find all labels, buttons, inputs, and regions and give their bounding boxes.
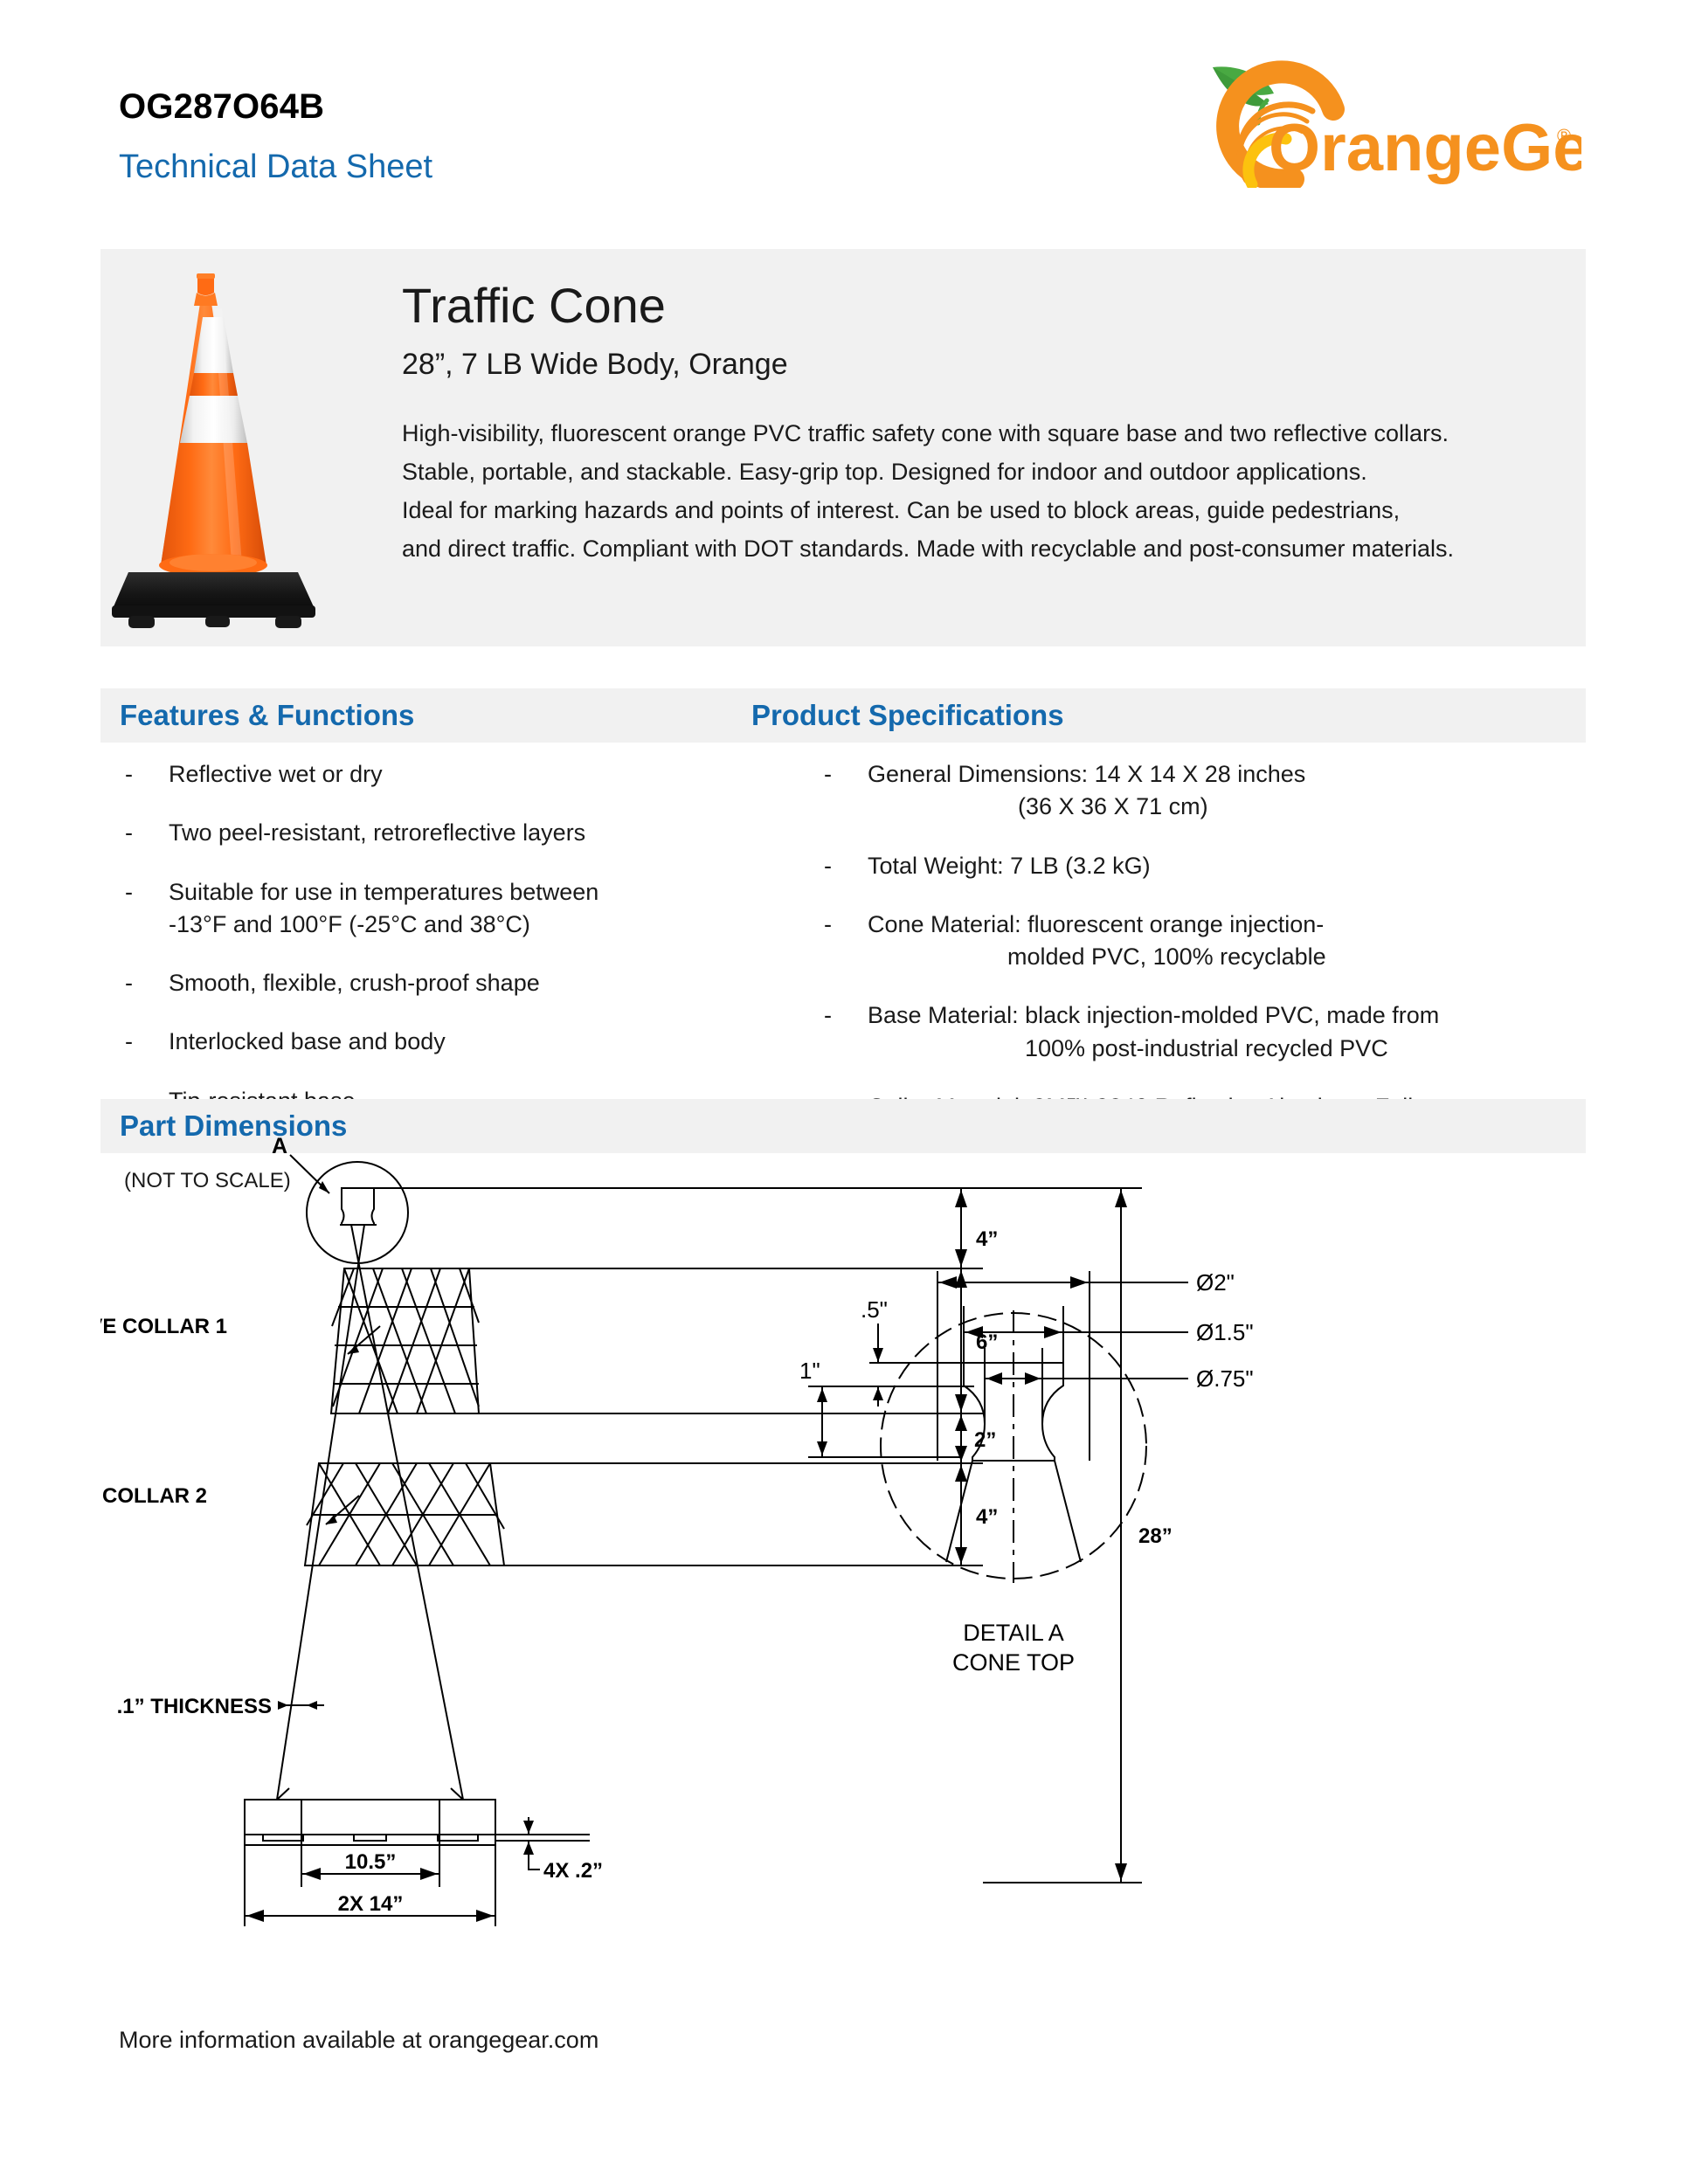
bullet-dash: -: [125, 758, 133, 791]
technical-drawing: A 4” 6” 2” 4” 28” REFLECTIVE COLLAR 1 RE…: [100, 1136, 1586, 2027]
dimension-collar-2: 4”: [976, 1505, 998, 1529]
product-hero-band: Traffic Cone 28”, 7 LB Wide Body, Orange…: [100, 249, 1586, 646]
bullet-dash: -: [125, 967, 133, 999]
base-inner-dimension: [301, 1800, 439, 1887]
description-line: Stable, portable, and stackable. Easy-gr…: [402, 453, 1555, 492]
dimension-between-collars: 2”: [974, 1428, 996, 1452]
list-item: - Suitable for use in temperatures betwe…: [118, 876, 730, 942]
bullet-dash: -: [824, 909, 832, 941]
dimension-detail-height-large: 1": [799, 1358, 820, 1384]
thickness-callout: [278, 1701, 324, 1710]
list-item: - Total Weight: 7 LB (3.2 kG): [817, 850, 1586, 882]
bullet-dash: -: [824, 850, 832, 882]
detail-callout-circle: [307, 1162, 408, 1263]
base-outline: [245, 1788, 495, 1845]
feature-text: Suitable for use in temperatures between: [169, 879, 598, 905]
dimension-diameter-mid: Ø1.5": [1196, 1319, 1254, 1345]
description-line: High-visibility, fluorescent orange PVC …: [402, 415, 1555, 453]
product-variant: 28”, 7 LB Wide Body, Orange: [402, 348, 1555, 382]
section-band-features-specs: Features & Functions Product Specificati…: [100, 688, 1586, 743]
feature-text: Two peel-resistant, retroreflective laye…: [169, 819, 585, 846]
collar-2-leader: [326, 1496, 359, 1524]
document-type-subtitle: Technical Data Sheet: [119, 149, 432, 186]
feature-text: Smooth, flexible, crush-proof shape: [169, 970, 540, 996]
bullet-dash: -: [125, 876, 133, 909]
dimension-top-gap: 4”: [976, 1227, 998, 1251]
section-heading-features: Features & Functions: [120, 699, 414, 732]
detail-marker-label: A: [272, 1136, 287, 1158]
bullet-dash: -: [125, 1026, 133, 1058]
feature-text: Reflective wet or dry: [169, 761, 383, 787]
dimension-diameter-inner: Ø.75": [1196, 1365, 1254, 1392]
spec-text-continued: (36 X 36 X 71 cm): [868, 791, 1586, 823]
description-line: and direct traffic. Compliant with DOT s…: [402, 530, 1555, 569]
vertical-dimension-chain: [955, 1188, 967, 1565]
specifications-column: - General Dimensions: 14 X 14 X 28 inche…: [817, 758, 1586, 1150]
product-photo: [109, 258, 349, 638]
page-header: OG287O64B Technical Data Sheet: [0, 0, 1688, 236]
page-footer: More information available at orangegear…: [119, 2027, 598, 2054]
spec-text: Base Material: black injection-molded PV…: [868, 1002, 1439, 1028]
logo-wordmark: OrangeGear: [1269, 111, 1581, 185]
bullet-dash: -: [125, 817, 133, 849]
dimension-collar-1: 6”: [976, 1330, 998, 1354]
dimension-feet-height: 4X .2”: [543, 1859, 603, 1883]
orangegear-logo: OrangeGear ®: [1162, 48, 1581, 188]
dimension-overall-height: 28”: [1138, 1524, 1173, 1548]
detail-leader-arrow: [319, 1181, 329, 1193]
list-item: - Cone Material: fluorescent orange inje…: [817, 909, 1586, 974]
dimension-diameter-outer: Ø2": [1196, 1269, 1235, 1296]
dimension-detail-height-small: .5": [861, 1296, 888, 1323]
list-item: - Reflective wet or dry: [118, 758, 730, 791]
spec-text-continued: molded PVC, 100% recyclable: [868, 941, 1586, 973]
product-title: Traffic Cone: [402, 280, 1555, 332]
spec-text: General Dimensions: 14 X 14 X 28 inches: [868, 761, 1305, 787]
data-sheet-page: OG287O64B Technical Data Sheet: [0, 0, 1688, 2184]
feature-text: Interlocked base and body: [169, 1028, 446, 1054]
list-item: - Smooth, flexible, crush-proof shape: [118, 967, 730, 999]
section-heading-specifications: Product Specifications: [751, 699, 1064, 732]
product-summary: Traffic Cone 28”, 7 LB Wide Body, Orange…: [402, 280, 1555, 568]
overall-height-dimension: [983, 1188, 1142, 1883]
description-line: Ideal for marking hazards and points of …: [402, 492, 1555, 530]
list-item: - General Dimensions: 14 X 14 X 28 inche…: [817, 758, 1586, 824]
list-item: - Interlocked base and body: [118, 1026, 730, 1058]
dimension-base-outer: 2X 14”: [338, 1892, 404, 1916]
bullet-dash: -: [824, 758, 832, 791]
list-item: - Base Material: black injection-molded …: [817, 999, 1586, 1065]
registered-trademark-icon: ®: [1557, 125, 1571, 147]
detail-caption-title: DETAIL A: [963, 1620, 1064, 1646]
detail-caption-subtitle: CONE TOP: [952, 1649, 1075, 1676]
bullet-dash: -: [824, 999, 832, 1032]
features-column: - Reflective wet or dry - Two peel-resis…: [118, 758, 730, 1144]
spec-text: Total Weight: 7 LB (3.2 kG): [868, 853, 1151, 879]
product-description: High-visibility, fluorescent orange PVC …: [402, 415, 1555, 568]
reflective-collar-1-hatch: [331, 1268, 479, 1413]
reflective-collar-2-hatch: [305, 1463, 504, 1565]
label-reflective-collar-1: REFLECTIVE COLLAR 1: [100, 1315, 227, 1338]
list-item: - Two peel-resistant, retroreflective la…: [118, 817, 730, 849]
spec-text: Cone Material: fluorescent orange inject…: [868, 911, 1324, 937]
dimension-base-inner: 10.5”: [345, 1850, 397, 1874]
label-wall-thickness: .1” THICKNESS: [117, 1695, 272, 1718]
label-reflective-collar-2: REFLECTIVE COLLAR 2: [100, 1484, 207, 1508]
features-list: - Reflective wet or dry - Two peel-resis…: [118, 758, 730, 1117]
feature-text-continued: -13°F and 100°F (-25°C and 38°C): [169, 909, 730, 941]
specifications-list: - General Dimensions: 14 X 14 X 28 inche…: [817, 758, 1586, 1123]
spec-text-continued: 100% post-industrial recycled PVC: [868, 1033, 1586, 1065]
product-sku: OG287O64B: [119, 87, 324, 127]
